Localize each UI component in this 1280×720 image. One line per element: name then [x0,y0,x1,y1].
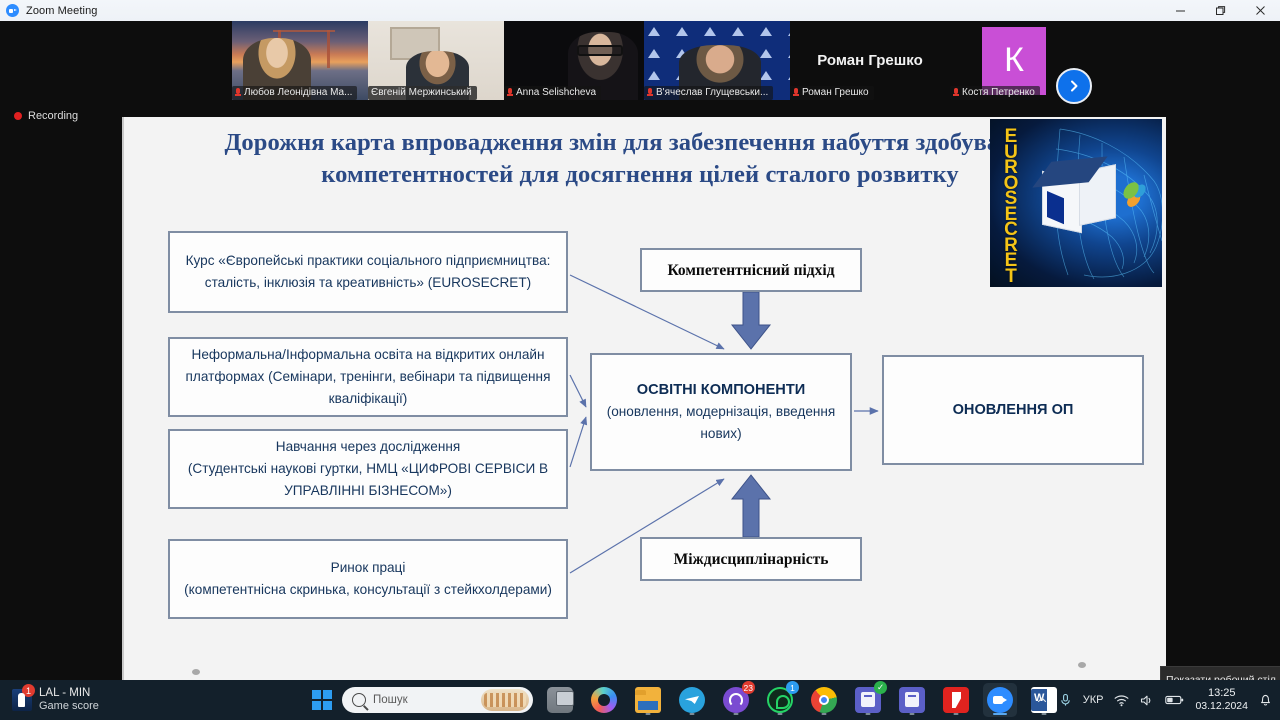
box-labour-market[interactable]: Ринок праці (компетентнісна скринька, ко… [168,539,568,619]
recording-indicator[interactable]: Recording [14,110,78,122]
taskbar-app-telegram[interactable] [675,683,709,717]
box-labour-line2: (компетентнісна скринька, консультації з… [178,579,558,601]
participant-tile[interactable]: В'ячеслав Глущевськи... [644,21,790,100]
taskbar-app-acrobat[interactable] [939,683,973,717]
participant-tiles: Любов Леонідівна Ма... Євгеній Мержинськ… [232,21,1078,100]
search-icon [352,693,366,707]
taskbar-app-file-explorer[interactable] [631,683,665,717]
logo-cube-icon [1042,165,1114,235]
box-interdisciplinarity[interactable]: Міждисциплінарність [640,537,862,581]
system-tray: УКР [1036,680,1272,720]
speaker-icon[interactable] [1140,694,1154,707]
logo-wordmark: EUROSECRET [998,129,1024,277]
wifi-icon[interactable] [1114,694,1129,707]
participant-name-chip: Любов Леонідівна Ма... [232,86,357,100]
teams-status-badge: ✓ [874,681,887,694]
participant-name: Роман Грешко [802,87,869,98]
nba-icon: 1 [12,689,32,711]
participant-tile[interactable]: Роман Грешко Роман Грешко [790,21,950,100]
clock-date: 03.12.2024 [1195,700,1248,713]
box-nonformal-education[interactable]: Неформальна/Інформальна освіта на відкри… [168,337,568,417]
language-indicator[interactable]: УКР [1083,694,1104,706]
search-input[interactable]: Пошук [342,687,533,713]
recording-label: Recording [28,110,78,122]
widget-subtitle: Game score [39,700,99,713]
mic-muted-icon [953,88,959,97]
adobe-acrobat-icon [943,687,969,713]
file-explorer-icon [635,687,661,713]
windows-taskbar: 1 LAL - MIN Game score Пошук 23 [0,680,1280,720]
participant-name: Anna Selishcheva [516,87,596,98]
slide-marker-dot [1078,662,1086,668]
mic-muted-icon [793,88,799,97]
participant-name-chip: Роман Грешко [790,86,874,100]
participant-name: Костя Петренко [962,87,1035,98]
avatar-initial: К [1004,41,1024,80]
box-educational-components[interactable]: ОСВІТНІ КОМПОНЕНТИ (оновлення, модерніза… [590,353,852,471]
slide-canvas: Дорожня карта впровадження змін для забе… [124,117,1166,682]
taskbar-clock[interactable]: 13:25 03.12.2024 [1195,687,1248,713]
participant-large-name: Роман Грешко [817,52,922,69]
taskbar-app-teams-work[interactable]: ✓ [851,683,885,717]
box-competency-approach[interactable]: Компетентнісний підхід [640,248,862,292]
taskbar-app-viber[interactable]: 23 [719,683,753,717]
taskbar-app-zoom[interactable] [983,683,1017,717]
telegram-icon [679,687,705,713]
window-titlebar: Zoom Meeting [0,0,1280,22]
box-research-line1: Навчання через дослідження [178,436,558,458]
taskbar-app-whatsapp[interactable]: 1 [763,683,797,717]
box-learning-through-research[interactable]: Навчання через дослідження (Студентські … [168,429,568,509]
microphone-icon[interactable] [1059,693,1072,707]
window-controls [1160,0,1280,21]
shared-screen-slide[interactable]: Дорожня карта впровадження змін для забе… [122,117,1166,682]
box-labour-line1: Ринок праці [178,557,558,579]
bell-icon[interactable] [1259,693,1272,707]
window-title: Zoom Meeting [26,5,98,17]
widget-badge: 1 [22,684,35,697]
participant-name: Любов Леонідівна Ма... [244,87,352,98]
taskbar-app-copilot[interactable] [587,683,621,717]
chrome-icon [811,687,837,713]
taskbar-app-teams[interactable] [895,683,929,717]
box-update-op[interactable]: ОНОВЛЕННЯ ОП [882,355,1144,465]
slide-title: Дорожня карта впровадження змін для забе… [190,127,1090,191]
participant-filmstrip: Любов Леонідівна Ма... Євгеній Мержинськ… [0,21,1280,100]
taskbar-center-group: Пошук 23 1 ✓ [312,680,1061,720]
zoom-application-window: Zoom Meeting [0,0,1280,720]
zoom-icon [987,687,1013,713]
teams-icon [899,687,925,713]
taskbar-widget-game-score[interactable]: 1 LAL - MIN Game score [12,687,99,713]
chevron-up-icon[interactable] [1036,694,1048,706]
widget-title: LAL - MIN [39,687,99,700]
participant-tile[interactable]: Любов Леонідівна Ма... [232,21,368,100]
participant-name: Євгеній Мержинський [371,87,472,98]
zoom-logo-icon [6,4,19,17]
clock-time: 13:25 [1195,687,1248,700]
box-update-op-text: ОНОВЛЕННЯ ОП [884,402,1142,418]
participant-name-chip: Євгеній Мержинський [368,86,477,100]
box-components-detail: (оновлення, модернізація, введення нових… [600,401,842,445]
participant-name-chip: Anna Selishcheva [504,86,601,100]
mic-muted-icon [647,88,653,97]
windows-start-icon[interactable] [312,690,332,710]
battery-icon[interactable] [1165,694,1184,706]
restore-button[interactable] [1200,0,1240,21]
participant-tile[interactable]: Євгеній Мержинський [368,21,504,100]
taskbar-app-chrome[interactable] [807,683,841,717]
minimize-button[interactable] [1160,0,1200,21]
meeting-stage: Любов Леонідівна Ма... Євгеній Мержинськ… [0,21,1280,680]
participant-name: В'ячеслав Глущевськи... [656,87,768,98]
box-competency-text: Компетентнісний підхід [642,259,860,282]
box-components-title: ОСВІТНІ КОМПОНЕНТИ [600,379,842,401]
box-course[interactable]: Курс «Європейські практики соціального п… [168,231,568,313]
viber-badge: 23 [742,681,755,694]
box-interdisciplinarity-text: Міждисциплінарність [642,548,860,571]
box-research-line2: (Студентські наукові гуртки, НМЦ «ЦИФРОВ… [178,458,558,502]
taskbar-app-task-view[interactable] [543,683,577,717]
task-view-icon [547,687,573,713]
box-nonformal-text: Неформальна/Інформальна освіта на відкри… [170,344,566,410]
mic-muted-icon [235,88,241,97]
search-placeholder: Пошук [373,694,474,706]
participant-tile[interactable]: Anna Selishcheva [504,21,644,100]
box-course-text: Курс «Європейські практики соціального п… [170,250,566,294]
mic-muted-icon [507,88,513,97]
close-button[interactable] [1240,0,1280,21]
copilot-icon [591,687,617,713]
slide-marker-dot [192,669,200,675]
search-highlight-thumbnail [481,689,529,711]
participant-name-chip: В'ячеслав Глущевськи... [644,86,773,100]
chevron-right-icon[interactable] [1056,68,1092,104]
whatsapp-badge: 1 [786,681,799,694]
participant-name-chip: Костя Петренко [950,86,1040,100]
recording-dot-icon [14,112,22,120]
eurosecret-logo: EUROSECRET [990,119,1162,287]
